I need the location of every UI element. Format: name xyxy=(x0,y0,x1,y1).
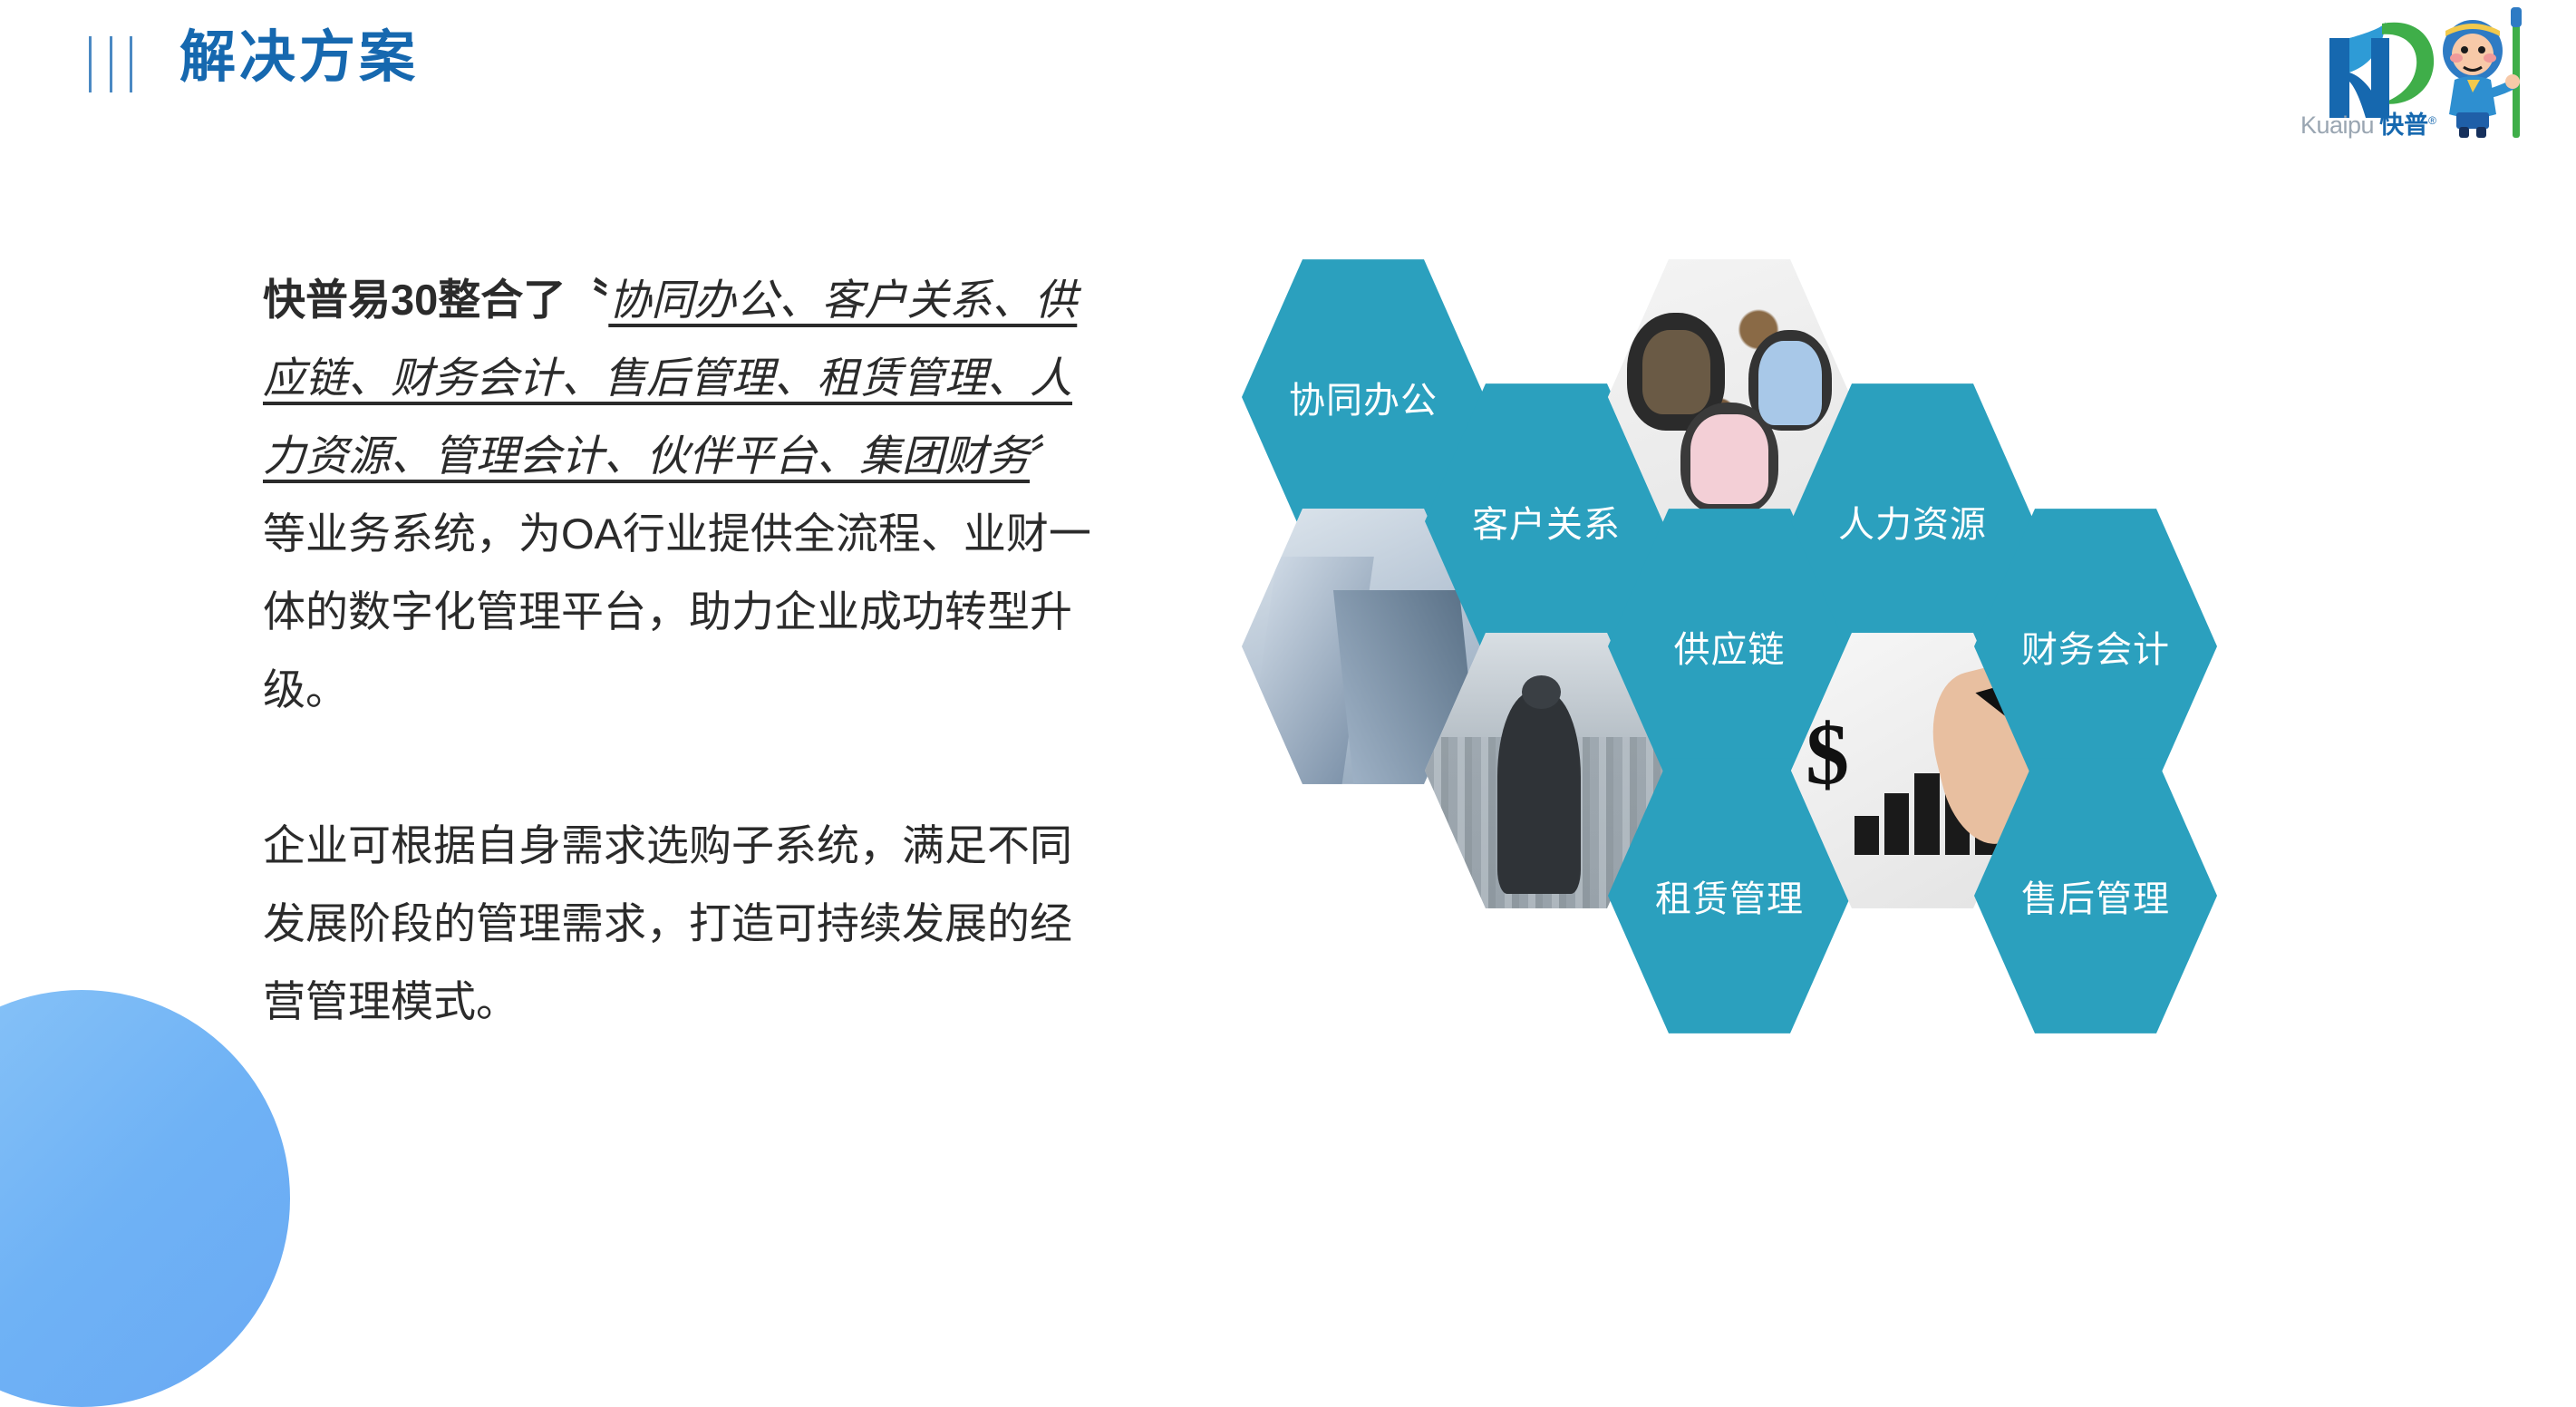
page-header: 解决方案 xyxy=(0,0,2576,154)
hex-collab-label: 协同办公 xyxy=(1289,371,1438,423)
paragraph-1-seg-2: 〝 xyxy=(566,276,608,324)
hex-service-label: 售后管理 xyxy=(2021,869,2170,922)
hex-scm-label: 供应链 xyxy=(1674,620,1786,673)
paragraph-2: 企业可根据自身需求选购子系统，满足不同发展阶段的管理需求，打造可持续发展的经营管… xyxy=(263,807,1106,1041)
description-text-column: 快普易30整合了〝协同办公、客户关系、供应链、财务会计、售后管理、租赁管理、人力… xyxy=(263,261,1106,1041)
logo-wordmark: Kuaipu快普® xyxy=(2300,113,2436,138)
paragraph-1-seg-5: 等业务系统，为OA行业提供全流程、业财一体的数字化管理平台，助力企业成功转型升级… xyxy=(263,509,1091,713)
blue-circle-decoration xyxy=(0,990,290,1407)
hex-lease-label: 租赁管理 xyxy=(1655,869,1804,922)
hex-hr-label: 人力资源 xyxy=(1838,495,1987,548)
logo-wordmark-en: Kuaipu xyxy=(2300,112,2374,139)
paragraph-1: 快普易30整合了〝协同办公、客户关系、供应链、财务会计、售后管理、租赁管理、人力… xyxy=(263,261,1106,729)
hex-finance-label: 财务会计 xyxy=(2021,620,2170,673)
hexagon-cluster: 协同办公 客户关系 供应链 租赁管理 人力资源 $ 财务会计 xyxy=(1224,159,2402,1097)
kuaipu-logo: Kuaipu快普® xyxy=(2295,5,2549,158)
hex-crm-label: 客户关系 xyxy=(1472,495,1621,548)
page-title: 解决方案 xyxy=(179,13,419,103)
logo-registered-mark: ® xyxy=(2428,114,2436,127)
paragraph-1-seg-1: 整合了 xyxy=(438,276,566,324)
monkey-mascot-icon xyxy=(2443,7,2522,138)
paragraph-1-seg-0: 快普易30 xyxy=(263,276,438,324)
paragraph-1-seg-4: 〞 xyxy=(1030,432,1072,480)
three-vertical-bars-icon xyxy=(89,36,132,92)
logo-wordmark-cn: 快普 xyxy=(2379,112,2428,139)
